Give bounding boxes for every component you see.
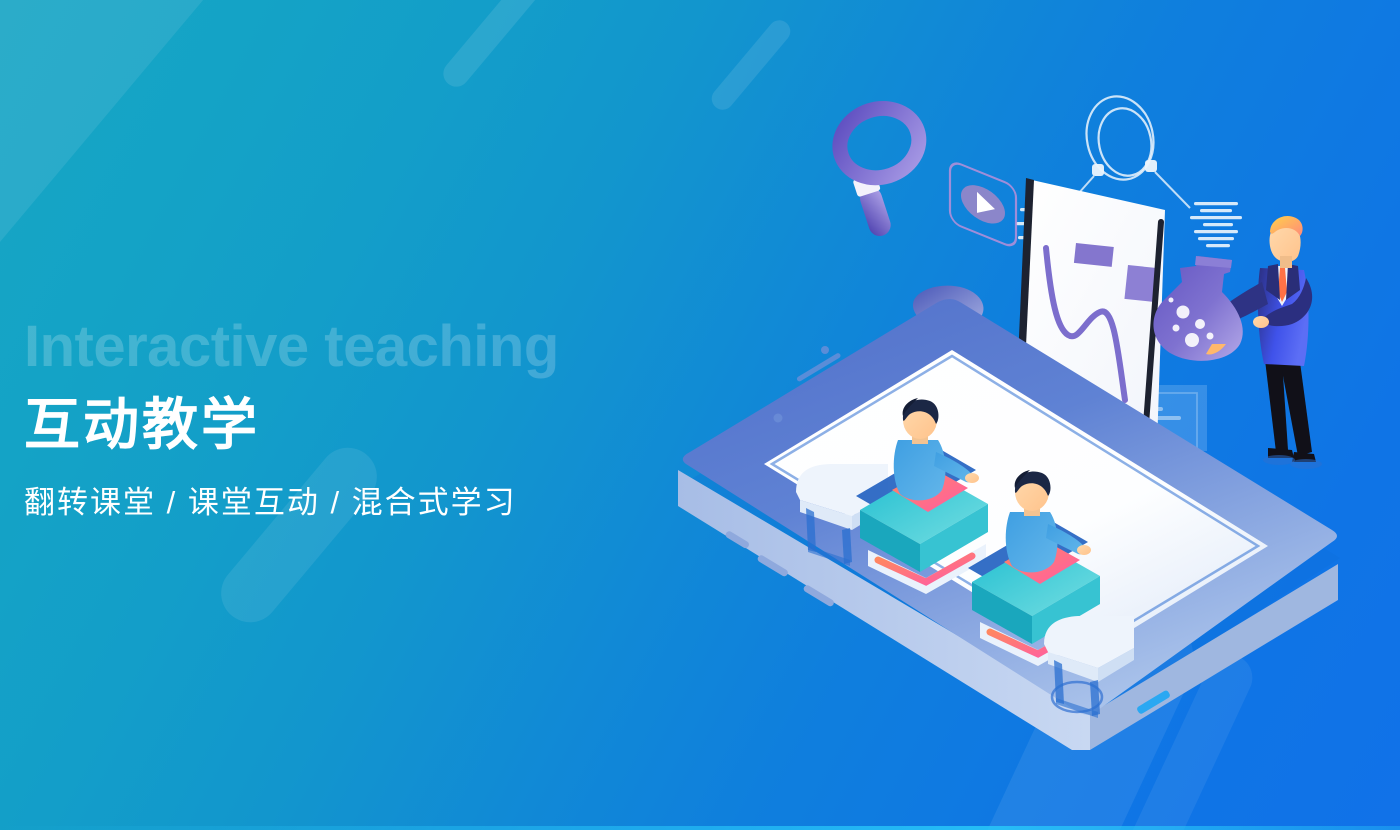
decorative-stripe-2	[438, 0, 548, 92]
flask-icon	[1154, 256, 1243, 361]
bottom-glow-line	[0, 826, 1400, 830]
banner-root: Interactive teaching 互动教学 翻转课堂 / 课堂互动 / …	[0, 0, 1400, 830]
video-play-icon	[950, 160, 1016, 249]
decorative-stripe-1	[0, 0, 257, 334]
magnifier-icon	[831, 98, 945, 240]
illustration	[620, 60, 1380, 780]
